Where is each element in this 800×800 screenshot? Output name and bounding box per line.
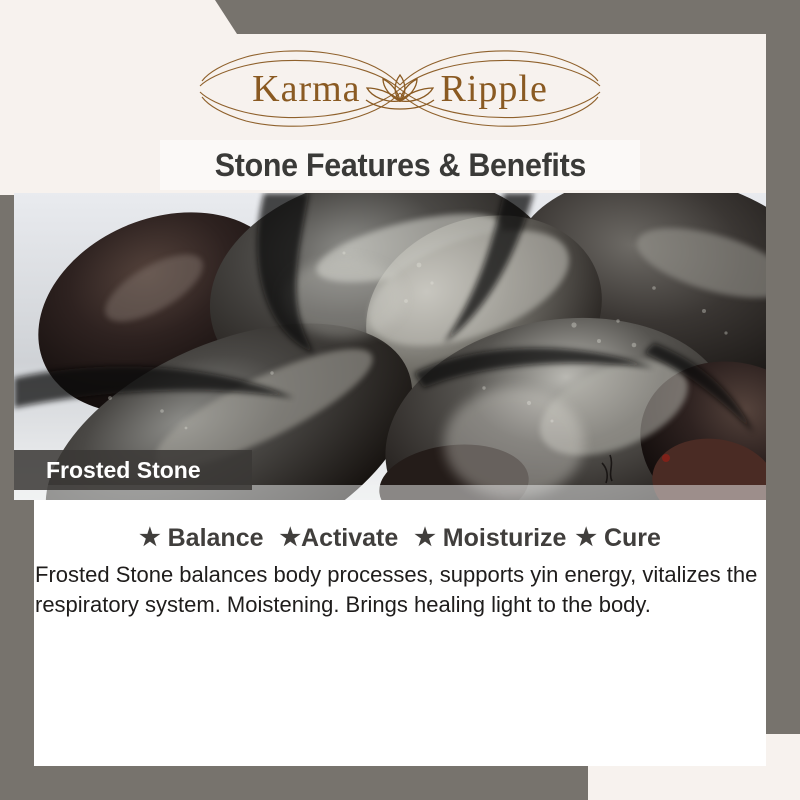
star-icon: ★ xyxy=(280,526,302,550)
benefit-label: Moisturize xyxy=(443,524,567,553)
benefit-item-balance: ★ Balance xyxy=(139,524,263,553)
title-band: Stone Features & Benefits xyxy=(160,140,640,190)
benefit-label: Activate xyxy=(301,524,398,553)
logo-ornament-svg xyxy=(150,39,650,139)
benefit-item-activate: ★ Activate xyxy=(280,524,399,553)
star-icon: ★ xyxy=(139,526,161,550)
lotus-icon xyxy=(366,75,434,109)
benefit-label: Balance xyxy=(168,524,264,553)
benefits-row: ★ Balance ★ Activate ★ Moisturize ★ Cure xyxy=(34,521,766,555)
benefit-item-cure: ★ Cure xyxy=(575,524,660,553)
brand-logo: Karma Ripple xyxy=(150,34,650,144)
stone-description: Frosted Stone balances body processes, s… xyxy=(34,560,766,620)
star-icon: ★ xyxy=(414,526,436,550)
benefit-item-moisturize: ★ Moisturize xyxy=(414,524,566,553)
poster-content: Karma Ripple Stone Features & Benefits xyxy=(0,0,800,800)
star-icon: ★ xyxy=(575,526,597,550)
benefit-label: Cure xyxy=(604,524,661,553)
photo-caption-label: Frosted Stone xyxy=(14,457,201,484)
page-title: Stone Features & Benefits xyxy=(214,147,585,184)
photo-caption-band: Frosted Stone xyxy=(14,450,252,490)
poster-canvas: Karma Ripple Stone Features & Benefits xyxy=(0,0,800,800)
